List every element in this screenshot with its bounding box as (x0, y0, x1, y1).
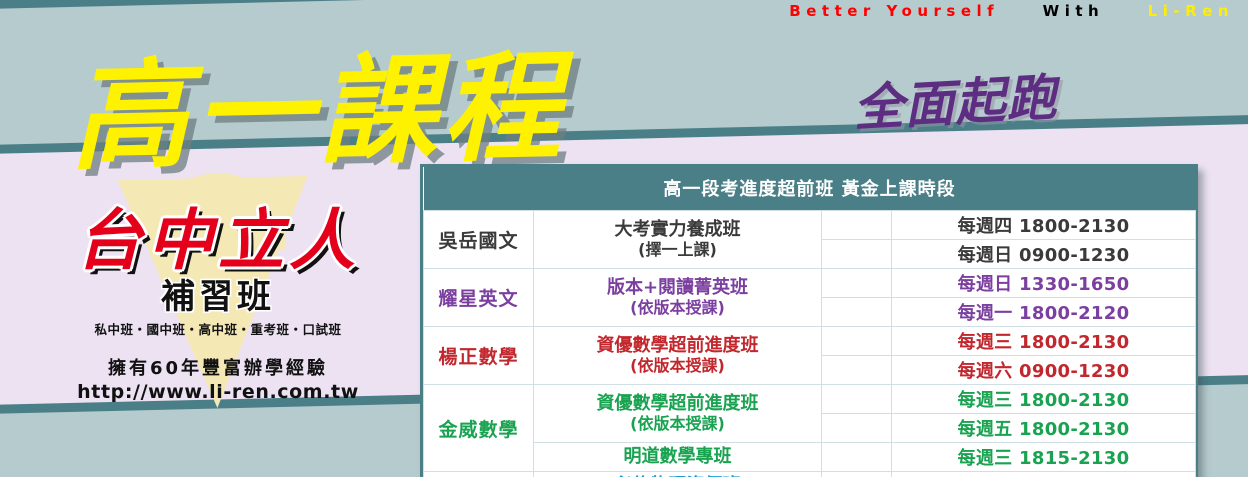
table-row: 吳岳國文大考實力養成班(擇一上課)每週四 1800-2130 (424, 211, 1196, 240)
spacer-cell (822, 269, 892, 298)
spacer-cell (822, 211, 892, 240)
tagline-part-3: Li-Ren (1148, 2, 1234, 20)
schedule-table-title: 高一段考進度超前班 黃金上課時段 (424, 167, 1196, 211)
class-time: 每週一 1800-2120 (892, 298, 1196, 327)
schedule-table-card: 高一段考進度超前班 黃金上課時段 吳岳國文大考實力養成班(擇一上課)每週四 18… (420, 164, 1198, 477)
spacer-cell (822, 443, 892, 472)
spacer-cell (822, 240, 892, 269)
spacer-cell (822, 356, 892, 385)
tagline: Better Yourself With Li-Ren (0, 2, 1248, 20)
class-time: 每週三 1800-2130 (892, 327, 1196, 356)
teacher-name: 吳岳國文 (424, 211, 534, 269)
teacher-name: 金威數學 (424, 385, 534, 472)
course-note: (擇一上課) (534, 241, 821, 259)
schedule-table-body: 吳岳國文大考實力養成班(擇一上課)每週四 1800-2130每週日 0900-1… (424, 211, 1196, 477)
spacer-cell (822, 414, 892, 443)
course-title: 大考實力養成班 (615, 219, 741, 240)
spacer-cell (822, 327, 892, 356)
table-header-row: 高一段考進度超前班 黃金上課時段 (424, 167, 1196, 211)
class-time: 每週五 1800-2130 (892, 414, 1196, 443)
poster-canvas: Better Yourself With Li-Ren 高一課程 全面起跑 台中… (0, 0, 1248, 477)
schedule-table-head: 高一段考進度超前班 黃金上課時段 (424, 167, 1196, 211)
class-time: 每週三 1815-2130 (892, 443, 1196, 472)
spacer-cell (822, 298, 892, 327)
spacer-cell (822, 472, 892, 477)
tagline-part-1: Better Yourself (789, 2, 999, 20)
class-time: 每週日 1330-1650 (892, 269, 1196, 298)
table-row: 金威數學資優數學超前進度班(依版本授課)每週三 1800-2130 (424, 385, 1196, 414)
brand-logo: 台中立人 補習班 私中班・國中班・高中班・重考班・口試班 擁有60年豐富辦學經驗… (18, 206, 418, 403)
table-row: 耀星英文版本+閱讀菁英班(依版本授課)每週日 1330-1650 (424, 269, 1196, 298)
course-title: 版本+閱讀菁英班 (607, 277, 748, 298)
table-row: 楊正數學資優數學超前進度班(依版本授課)每週三 1800-2130 (424, 327, 1196, 356)
class-time: 每週二 1800-2120 (892, 472, 1196, 477)
course-name: 必修物理資優班 (534, 472, 822, 477)
class-time: 每週日 0900-1230 (892, 240, 1196, 269)
class-time: 每週三 1800-2130 (892, 385, 1196, 414)
course-name: 明道數學專班 (534, 443, 822, 472)
course-title: 資優數學超前進度班 (597, 335, 759, 356)
teacher-name: 陳碩物理 (424, 472, 534, 477)
teacher-name: 耀星英文 (424, 269, 534, 327)
table-row: 明道數學專班每週三 1815-2130 (424, 443, 1196, 472)
course-name: 大考實力養成班(擇一上課) (534, 211, 822, 269)
class-time: 每週四 1800-2130 (892, 211, 1196, 240)
table-row: 陳碩物理必修物理資優班每週二 1800-2120 (424, 472, 1196, 477)
logo-website-url[interactable]: http://www.li-ren.com.tw (18, 381, 418, 403)
logo-experience: 擁有60年豐富辦學經驗 (18, 354, 418, 380)
class-time: 每週六 0900-1230 (892, 356, 1196, 385)
course-name: 資優數學超前進度班(依版本授課) (534, 327, 822, 385)
course-title: 資優數學超前進度班 (597, 393, 759, 414)
spacer-cell (822, 385, 892, 414)
teacher-name: 楊正數學 (424, 327, 534, 385)
tagline-part-2: With (1043, 2, 1105, 20)
page-subtitle: 全面起跑 (851, 57, 1059, 140)
course-note: (依版本授課) (534, 299, 821, 317)
logo-class-list: 私中班・國中班・高中班・重考班・口試班 (18, 319, 418, 338)
schedule-table: 高一段考進度超前班 黃金上課時段 吳岳國文大考實力養成班(擇一上課)每週四 18… (423, 167, 1196, 477)
logo-name: 台中立人 (18, 206, 418, 275)
course-name: 資優數學超前進度班(依版本授課) (534, 385, 822, 443)
course-name: 版本+閱讀菁英班(依版本授課) (534, 269, 822, 327)
course-note: (依版本授課) (534, 357, 821, 375)
course-note: (依版本授課) (534, 415, 821, 433)
